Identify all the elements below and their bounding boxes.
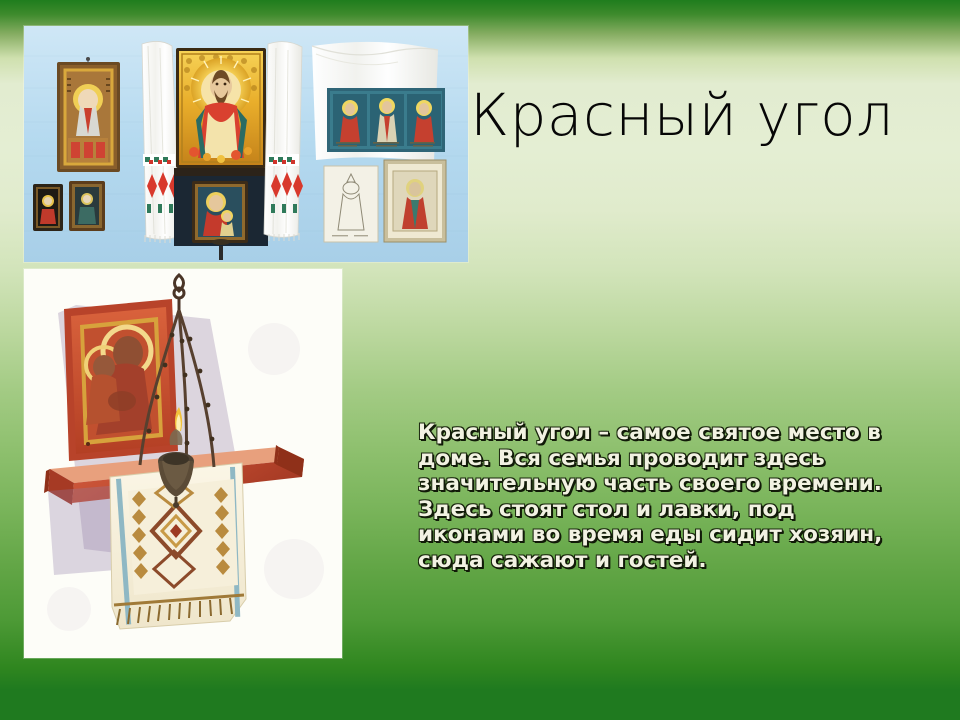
icon-framed-print-right [384, 160, 446, 242]
icon-mother-of-god-board [64, 299, 178, 461]
embroidered-towel-right [264, 42, 303, 241]
body-line: значительную часть своего времени. [418, 471, 900, 497]
body-line: Здесь стоят стол и лавки, под [418, 497, 900, 523]
icon-small-left-a [33, 184, 63, 231]
body-line: сюда сажают и гостей. [418, 548, 900, 574]
body-line: доме. Вся семья проводит здесь [418, 446, 900, 472]
icon-christ-pantocrator [176, 48, 266, 168]
icon-corner-photograph [24, 26, 468, 262]
icon-shelf-illustration [24, 269, 342, 658]
icon-small-left-b [69, 181, 105, 231]
body-line: Красный угол – самое святое место в [418, 420, 900, 446]
body-paragraph: Красный угол – самое святое место в доме… [418, 420, 900, 573]
page-title: Красный угол [470, 82, 900, 148]
icon-st-nicholas [57, 57, 120, 172]
icon-engraving-print [324, 166, 378, 242]
slide-canvas: Красный угол Красный угол – самое святое… [0, 0, 960, 720]
icon-mother-of-god [192, 181, 248, 245]
body-line: иконами во время еды сидит хозяин, [418, 522, 900, 548]
icon-triptych-three-saints [327, 88, 445, 152]
